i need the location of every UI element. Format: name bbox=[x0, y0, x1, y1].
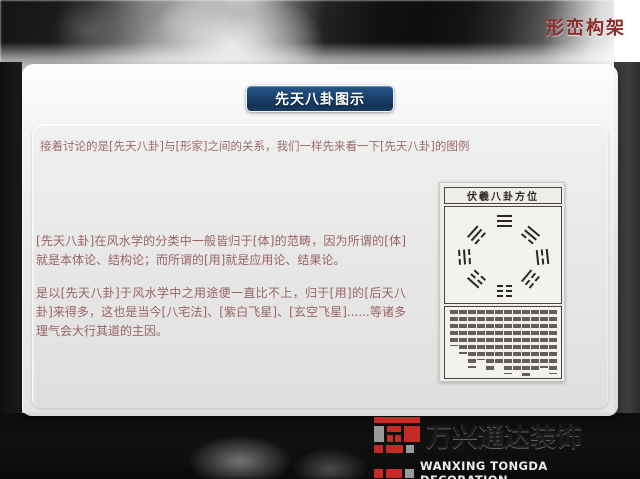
logo-dot-group bbox=[374, 469, 414, 478]
annotation-column bbox=[504, 310, 512, 374]
annotation-column bbox=[522, 310, 530, 376]
trigram-qian bbox=[497, 215, 512, 227]
trigram-dui bbox=[521, 226, 540, 245]
figure-annotation-columns bbox=[444, 306, 562, 379]
annotation-column bbox=[549, 310, 557, 374]
logo-top-row: 万兴通达装饰 bbox=[374, 415, 582, 453]
figure-caption-title: 伏羲八卦方位 bbox=[444, 187, 562, 204]
annotation-column bbox=[513, 310, 521, 370]
logo-chinese-name: 万兴通达装饰 bbox=[426, 423, 582, 453]
page-title: 形峦构架 bbox=[546, 14, 626, 40]
body-text-block: [先天八卦]在风水学的分类中一般皆归于[体]的范畴，因为所谓的[体]就是本体论、… bbox=[36, 232, 406, 341]
annotation-column bbox=[450, 310, 458, 346]
annotation-column bbox=[540, 310, 548, 368]
slide-root: 形峦构架 先天八卦图示 接着讨论的是[先天八卦]与[形家]之间的关系，我们一样先… bbox=[0, 0, 640, 479]
annotation-column bbox=[486, 310, 494, 372]
fuxi-bagua-figure: 伏羲八卦方位 bbox=[439, 182, 565, 382]
company-logo: 万兴通达装饰 WANXING TONGDA DECORATION bbox=[374, 415, 632, 471]
annotation-column bbox=[477, 310, 485, 360]
trigram-zhen bbox=[521, 269, 540, 288]
body-paragraph: [先天八卦]在风水学的分类中一般皆归于[体]的范畴，因为所谓的[体]就是本体论、… bbox=[36, 232, 406, 270]
section-heading-pill: 先天八卦图示 bbox=[246, 85, 394, 112]
trigram-li bbox=[536, 249, 550, 265]
body-paragraph: 是以[先天八卦]于风水学中之用途便一直比不上，归于[用]的[后天八卦]来得多，这… bbox=[36, 284, 406, 341]
bagua-trigram-box bbox=[444, 206, 562, 304]
trigram-kan bbox=[458, 249, 471, 265]
intro-line: 接着讨论的是[先天八卦]与[形家]之间的关系，我们一样先来看一下[先天八卦]的图… bbox=[40, 138, 460, 154]
logo-mark-icon bbox=[374, 415, 420, 453]
annotation-column bbox=[495, 310, 503, 366]
logo-english-name: WANXING TONGDA DECORATION bbox=[420, 459, 632, 479]
logo-bottom-row: WANXING TONGDA DECORATION bbox=[374, 459, 632, 479]
trigram-kun bbox=[497, 285, 512, 297]
trigram-gen bbox=[467, 270, 486, 289]
annotation-column bbox=[531, 310, 539, 372]
section-heading-label: 先天八卦图示 bbox=[275, 89, 365, 109]
trigram-xun bbox=[467, 225, 486, 244]
annotation-column bbox=[459, 310, 467, 354]
annotation-column bbox=[468, 310, 476, 368]
